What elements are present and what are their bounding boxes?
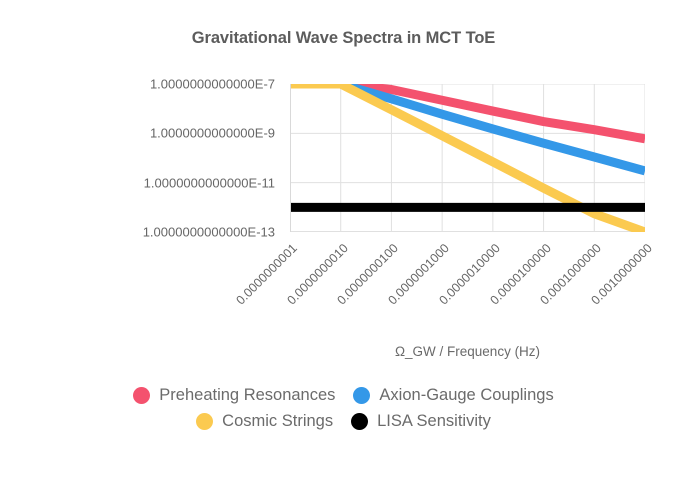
x-axis-title: Ω_GW / Frequency (Hz) xyxy=(290,344,645,359)
legend-item-label: LISA Sensitivity xyxy=(377,412,491,431)
legend-item-label: Preheating Resonances xyxy=(159,386,335,405)
legend-item[interactable]: LISA Sensitivity xyxy=(351,412,491,431)
legend-row: Cosmic StringsLISA Sensitivity xyxy=(0,412,687,431)
legend-item[interactable]: Preheating Resonances xyxy=(133,386,335,405)
legend-item-label: Cosmic Strings xyxy=(222,412,333,431)
legend-item[interactable]: Cosmic Strings xyxy=(196,412,333,431)
legend-dot-icon xyxy=(351,413,368,430)
legend-item-label: Axion-Gauge Couplings xyxy=(379,386,553,405)
gravitational-wave-spectra-chart: Gravitational Wave Spectra in MCT ToE 1.… xyxy=(0,0,687,477)
legend-item[interactable]: Axion-Gauge Couplings xyxy=(353,386,553,405)
legend-dot-icon xyxy=(133,387,150,404)
legend-dot-icon xyxy=(353,387,370,404)
legend-row: Preheating ResonancesAxion-Gauge Couplin… xyxy=(0,386,687,405)
chart-legend: Preheating ResonancesAxion-Gauge Couplin… xyxy=(0,386,687,438)
legend-dot-icon xyxy=(196,413,213,430)
